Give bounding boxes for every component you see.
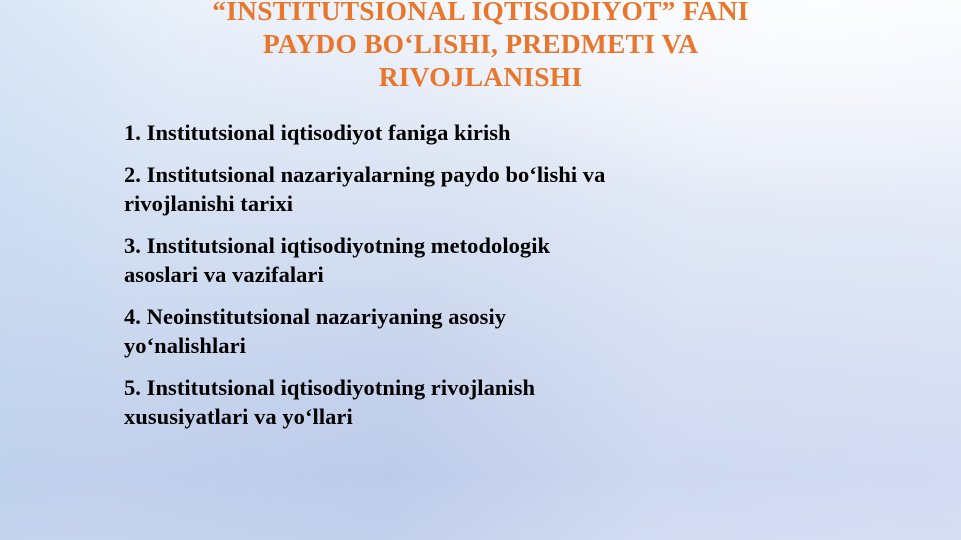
- list-item-line: 1. Institutsional iqtisodiyot faniga kir…: [124, 118, 884, 147]
- title-line-2: PAYDO BO‘LISHI, PREDMETI VA: [0, 27, 961, 60]
- list-item: 2. Institutsional nazariyalarning paydo …: [124, 160, 884, 218]
- presentation-slide: “INSTITUTSIONAL IQTISODIYOT” FANI PAYDO …: [0, 0, 961, 540]
- list-item-line: 4. Neoinstitutsional nazariyaning asosiy: [124, 302, 884, 331]
- slide-content: “INSTITUTSIONAL IQTISODIYOT” FANI PAYDO …: [0, 0, 961, 540]
- list-item-line: 2. Institutsional nazariyalarning paydo …: [124, 160, 884, 189]
- list-item-line: rivojlanishi tarixi: [124, 189, 884, 218]
- list-item: 4. Neoinstitutsional nazariyaning asosiy…: [124, 302, 884, 360]
- slide-title: “INSTITUTSIONAL IQTISODIYOT” FANI PAYDO …: [0, 0, 961, 93]
- list-item: 3. Institutsional iqtisodiyotning metodo…: [124, 231, 884, 289]
- list-item: 5. Institutsional iqtisodiyotning rivojl…: [124, 373, 884, 431]
- slide-body-list: 1. Institutsional iqtisodiyot faniga kir…: [124, 118, 884, 444]
- list-item-line: asoslari va vazifalari: [124, 260, 884, 289]
- title-line-1: “INSTITUTSIONAL IQTISODIYOT” FANI: [0, 0, 961, 27]
- list-item-line: yo‘nalishlari: [124, 331, 884, 360]
- title-line-3: RIVOJLANISHI: [0, 60, 961, 93]
- list-item-line: 3. Institutsional iqtisodiyotning metodo…: [124, 231, 884, 260]
- list-item-line: 5. Institutsional iqtisodiyotning rivojl…: [124, 373, 884, 402]
- list-item-line: xususiyatlari va yo‘llari: [124, 402, 884, 431]
- list-item: 1. Institutsional iqtisodiyot faniga kir…: [124, 118, 884, 147]
